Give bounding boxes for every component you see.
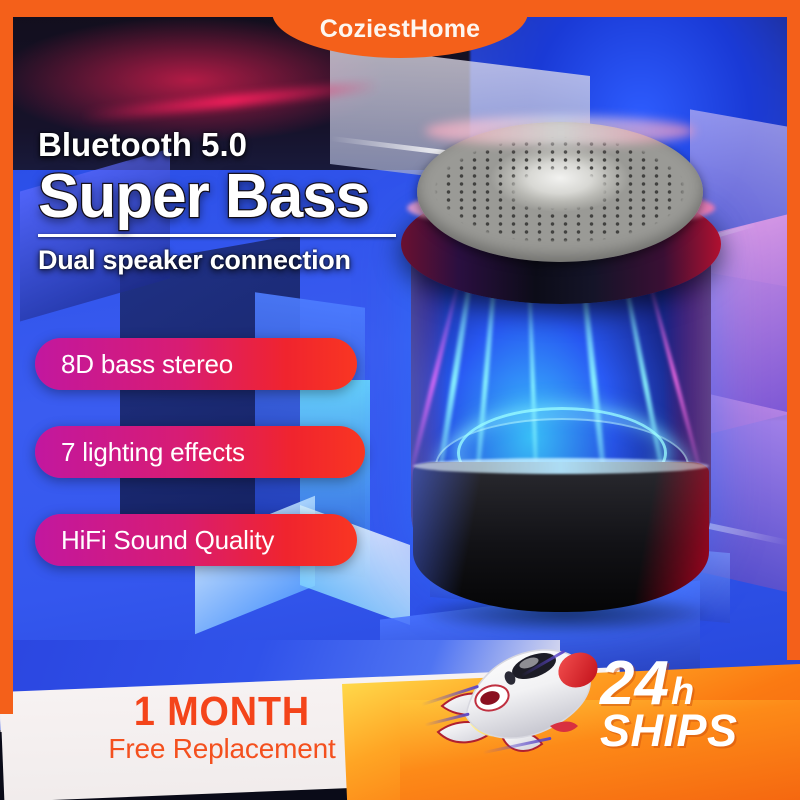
shipping-number: 24 <box>600 655 669 712</box>
warranty-badge: 1 MONTH Free Replacement <box>72 688 372 765</box>
rocket-icon <box>430 632 610 772</box>
feature-list: 8D bass stereo 7 lighting effects HiFi S… <box>35 338 365 602</box>
feature-pill-label: 7 lighting effects <box>61 437 245 468</box>
shipping-time: 24h <box>600 655 738 712</box>
warranty-detail: Free Replacement <box>72 733 372 765</box>
feature-pill-sound-quality[interactable]: HiFi Sound Quality <box>35 514 357 566</box>
frame-right-border <box>787 0 800 660</box>
shipping-label: SHIPS <box>600 708 738 753</box>
headline-block: Bluetooth 5.0 Super Bass Dual speaker co… <box>38 128 418 276</box>
headline-subtitle: Dual speaker connection <box>38 245 418 276</box>
speaker-base <box>413 462 709 612</box>
speaker-grille-perforations <box>429 132 691 248</box>
frame-left-border <box>0 0 13 714</box>
feature-pill-lighting-effects[interactable]: 7 lighting effects <box>35 426 365 478</box>
feature-pill-label: 8D bass stereo <box>61 349 233 380</box>
product-advertisement: Bluetooth 5.0 Super Bass Dual speaker co… <box>0 0 800 800</box>
feature-pill-label: HiFi Sound Quality <box>61 525 274 556</box>
product-image-speaker <box>395 92 725 632</box>
headline-divider <box>38 234 396 237</box>
brand-name: CoziestHome <box>320 15 481 44</box>
shipping-badge: 24h SHIPS <box>600 655 738 753</box>
page-title: Super Bass <box>38 165 418 228</box>
warranty-duration: 1 MONTH <box>84 688 360 735</box>
speaker-base-glow <box>413 458 709 474</box>
speaker-grille-highlight <box>425 116 695 146</box>
feature-pill-bass-stereo[interactable]: 8D bass stereo <box>35 338 357 390</box>
rocket-svg <box>430 632 610 772</box>
headline-eyebrow: Bluetooth 5.0 <box>38 128 418 163</box>
